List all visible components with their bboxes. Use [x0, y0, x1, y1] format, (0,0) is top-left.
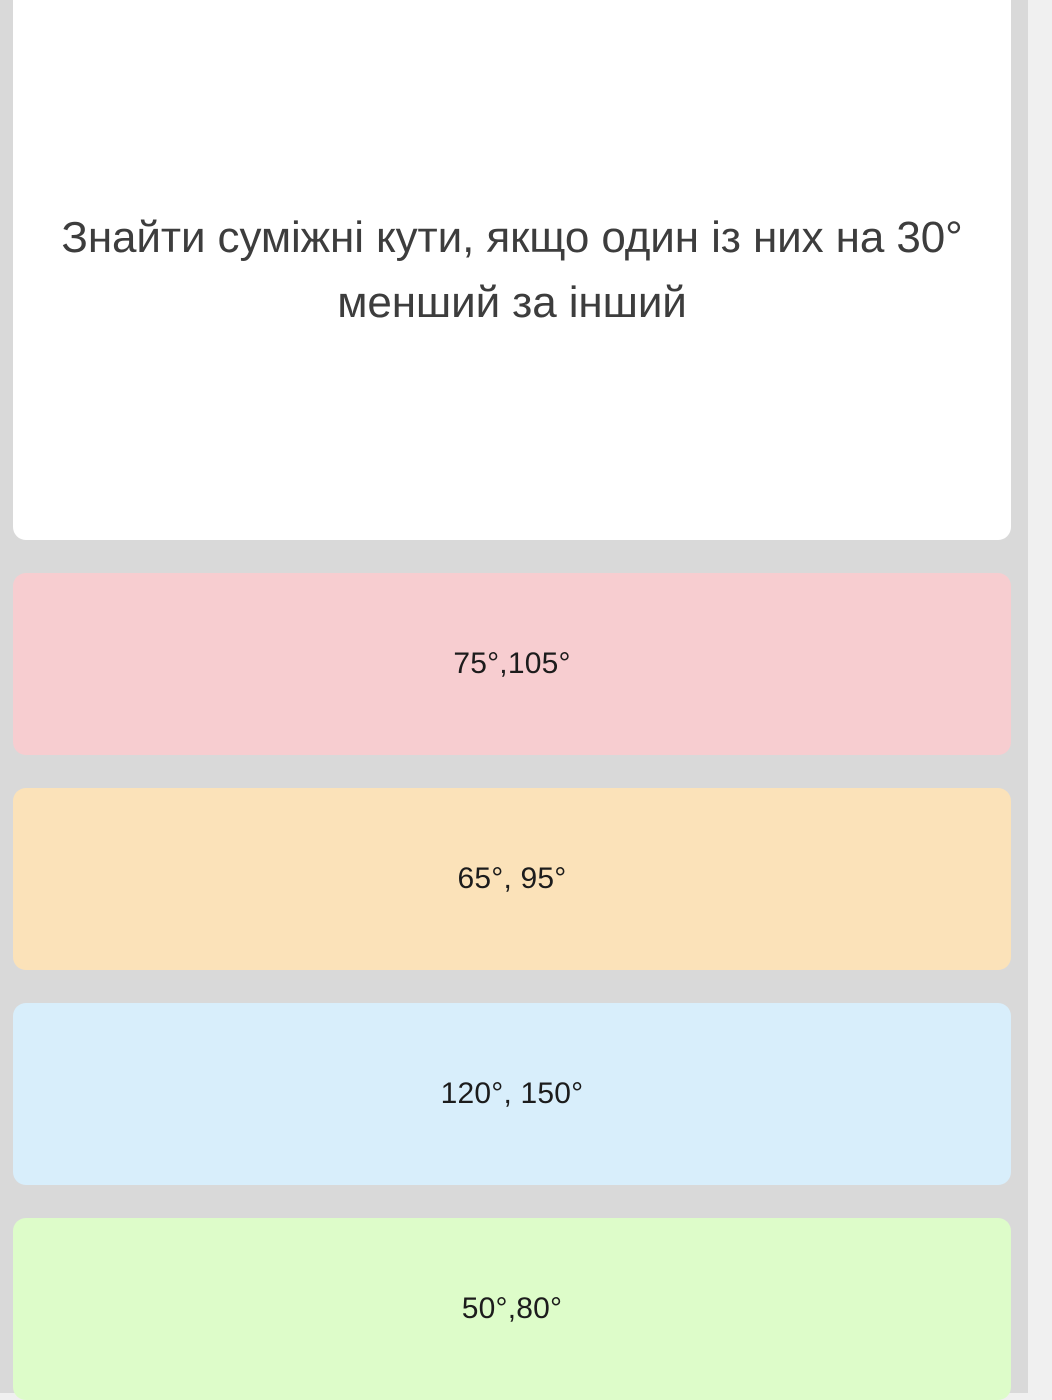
question-text: Знайти суміжні кути, якщо один із них на…	[35, 205, 989, 335]
scrollbar-gutter[interactable]	[1028, 0, 1052, 1393]
answer-option-4-label: 50°,80°	[462, 1292, 562, 1326]
answer-options-list: 75°,105° 65°, 95° 120°, 150° 50°,80°	[13, 573, 1011, 1400]
quiz-viewport: Знайти суміжні кути, якщо один із них на…	[0, 0, 1028, 1393]
answer-option-1-label: 75°,105°	[453, 647, 570, 681]
answer-option-2-label: 65°, 95°	[457, 862, 566, 896]
question-card: Знайти суміжні кути, якщо один із них на…	[13, 0, 1011, 540]
answer-option-2[interactable]: 65°, 95°	[13, 788, 1011, 970]
answer-option-3-label: 120°, 150°	[441, 1077, 584, 1111]
quiz-container: Знайти суміжні кути, якщо один із них на…	[13, 0, 1011, 1400]
answer-option-1[interactable]: 75°,105°	[13, 573, 1011, 755]
answer-option-4[interactable]: 50°,80°	[13, 1218, 1011, 1400]
answer-option-3[interactable]: 120°, 150°	[13, 1003, 1011, 1185]
